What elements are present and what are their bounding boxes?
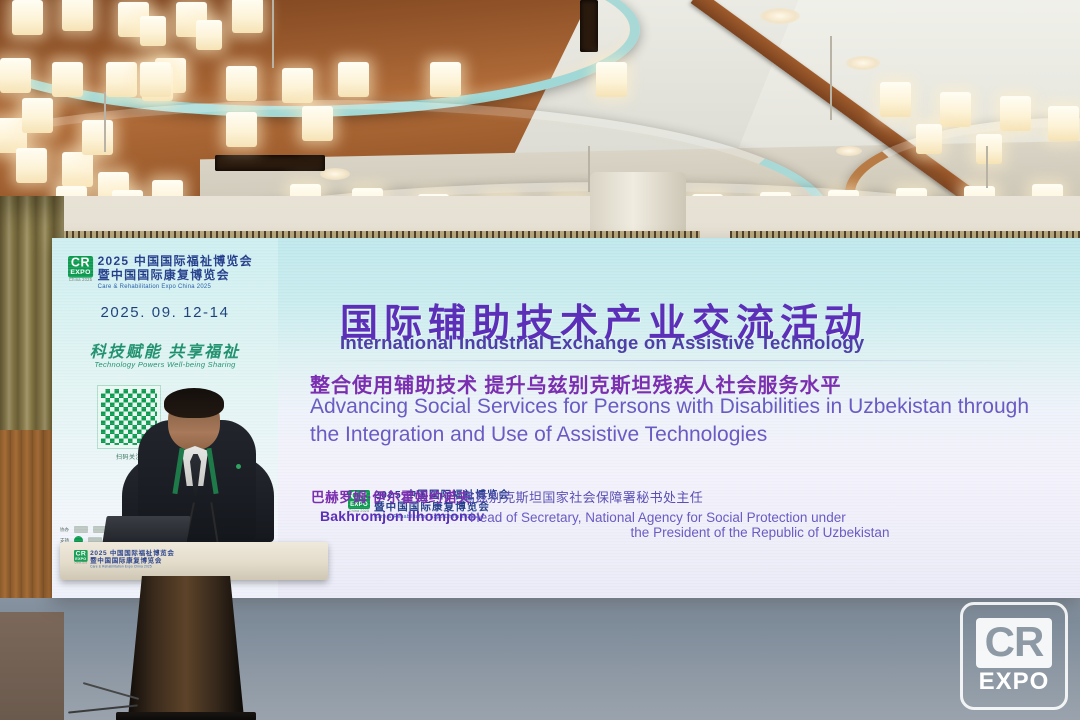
speaker-name-en: Bakhromjon Ilhomjonov [320, 508, 484, 524]
chandelier-lamp [916, 124, 942, 154]
cr-mark-line1: CR [68, 256, 93, 270]
cr-expo-mark: CR EXPO China 2025 [68, 256, 93, 283]
podium-and-speaker: CR EXPO China 2025 2025 中国国际福祉博览会 暨中国国际康… [60, 390, 340, 720]
slogan-cn: 科技赋能 共享福祉 [52, 338, 278, 362]
cr-expo-watermark: CR EXPO [960, 602, 1068, 710]
recessed-light [760, 8, 800, 24]
chandelier-lamp [106, 62, 137, 97]
chandelier-lamp [0, 58, 31, 93]
chandelier-lamp [16, 148, 47, 183]
chandelier-lamp [880, 82, 911, 117]
chandelier-stem [986, 146, 988, 188]
expo-title-cn-line1: 2025 中国国际福祉博览会 [98, 256, 253, 269]
cr-mark-line3: China 2025 [68, 279, 93, 283]
chandelier-lamp [226, 112, 257, 147]
podium-title-cn-line2: 暨中国国际康复博览会 [90, 557, 174, 564]
chandelier-lamp [232, 0, 263, 33]
chandelier-lamp [12, 0, 43, 35]
chandelier-lamp [140, 16, 166, 46]
cr-mark-line3: China 2025 [74, 562, 88, 564]
slide-subtitle-en: Advancing Social Services for Persons wi… [310, 393, 1030, 449]
chandelier-lamp [52, 62, 83, 97]
podium-column [128, 576, 244, 718]
chandelier-lamp [22, 98, 53, 133]
expo-title-cn-line2: 暨中国国际康复博览会 [98, 269, 253, 282]
cr-expo-wordmark: 2025 中国国际福祉博览会 暨中国国际康复博览会 Care & Rehabil… [90, 550, 174, 569]
speaker-hair [164, 388, 224, 418]
cr-mark-line1: CR [74, 550, 88, 557]
chandelier-lamp [430, 62, 461, 97]
chandelier-lamp [940, 92, 971, 127]
sidebar-cr-expo-logo: CR EXPO China 2025 2025 中国国际福祉博览会 暨中国国际康… [68, 256, 253, 291]
chandelier-stem [272, 0, 274, 68]
chandelier-lamp [976, 134, 1002, 164]
chandelier-lamp [302, 106, 333, 141]
conference-photo-scene: CR EXPO China 2025 2025 中国国际福祉博览会 暨中国国际康… [0, 0, 1080, 720]
chandelier-lamp [196, 20, 222, 50]
recessed-light [836, 146, 862, 156]
slogan-en: Technology Powers Well-being Sharing [52, 360, 278, 369]
chandelier-lamp [62, 0, 93, 31]
chandelier-lamp [140, 62, 171, 97]
expo-title-en: Care & Rehabilitation Expo China 2025 [98, 284, 253, 291]
podium-base [116, 712, 256, 720]
cr-expo-wordmark: 2025 中国国际福祉博览会 暨中国国际康复博览会 Care & Rehabil… [98, 256, 253, 291]
slide-title-en: International Industrial Exchange on Ass… [340, 332, 864, 354]
chandelier-lamp [82, 120, 113, 155]
speaker-lapel-pin [236, 464, 241, 469]
watermark-cr-text: CR [976, 618, 1053, 668]
chandelier-lamp [226, 66, 257, 101]
chandelier-lamp [282, 68, 313, 103]
podium-cr-expo-logo: CR EXPO China 2025 2025 中国国际福祉博览会 暨中国国际康… [74, 550, 175, 569]
chandelier-lamp [1048, 106, 1079, 141]
chandelier-lamp [62, 152, 93, 187]
cr-mark-line2: EXPO [68, 270, 93, 278]
cr-expo-mark: CR EXPO China 2025 [74, 550, 88, 565]
watermark-expo-text: EXPO [979, 670, 1050, 694]
speaker-title-en-line2: the President of the Republic of Uzbekis… [470, 525, 1050, 540]
podium-top: CR EXPO China 2025 2025 中国国际福祉博览会 暨中国国际康… [60, 542, 328, 580]
podium-title-en: Care & Rehabilitation Expo China 2025 [90, 565, 174, 569]
speaker-title-cn: 乌兹别克斯坦国家社会保障署秘书处主任 [462, 487, 703, 506]
event-date: 2025. 09. 12-14 [52, 304, 278, 321]
chandelier-lamp [1000, 96, 1031, 131]
chandelier-stem [104, 92, 106, 152]
recessed-light [846, 56, 880, 70]
chandelier-lamp [596, 62, 627, 97]
slide-divider [300, 360, 1060, 361]
chandelier-stem [830, 36, 832, 120]
chandelier-lamp [338, 62, 369, 97]
floor-left-edge [0, 612, 64, 720]
